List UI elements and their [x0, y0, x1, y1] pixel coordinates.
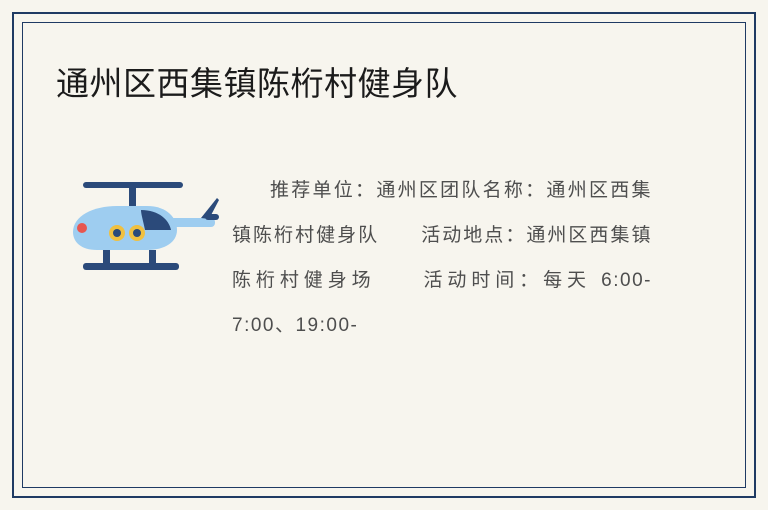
helicopter-illustration: [55, 170, 220, 280]
body-paragraph: 推荐单位：通州区团队名称：通州区西集镇陈桁村健身队 活动地点：通州区西集镇陈桁村…: [232, 168, 652, 348]
page-title: 通州区西集镇陈桁村健身队: [56, 62, 458, 106]
document-page: 通州区西集镇陈桁村健身队: [0, 0, 768, 510]
